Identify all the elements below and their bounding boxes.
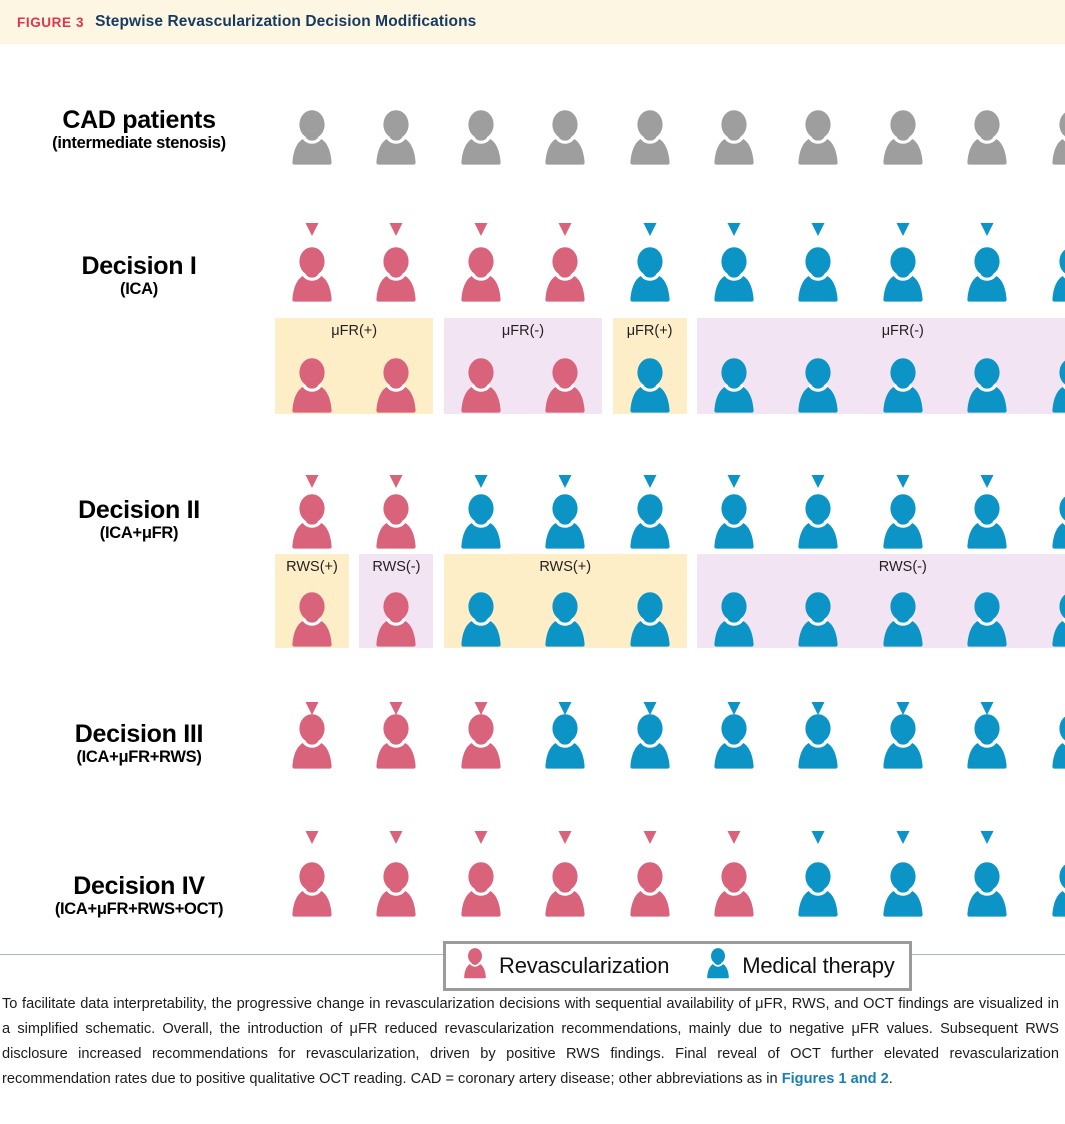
flow-arrow-d3-to-d4-7 — [810, 784, 826, 844]
patient-icon-ufr-band-2 — [369, 358, 423, 414]
figure-header: FIGURE 3 Stepwise Revascularization Deci… — [0, 0, 1065, 44]
flow-arrow-ufr-to-d2-8 — [895, 426, 911, 488]
flow-arrow-cad-to-d1-4 — [557, 176, 573, 236]
patient-icon-decision-2-2 — [369, 494, 423, 550]
patient-icon-cad-9 — [960, 110, 1014, 166]
patient-icon-decision-4-10 — [1045, 862, 1065, 918]
patient-icon-ufr-band-6 — [707, 358, 761, 414]
patient-icon-cad-5 — [623, 110, 677, 166]
patient-icon-decision-3-9 — [960, 714, 1014, 770]
patient-icon-cad-6 — [707, 110, 761, 166]
flow-arrow-ufr-to-d2-3 — [473, 426, 489, 488]
flow-arrow-d3-to-d4-9 — [979, 784, 995, 844]
patient-icon-rws-band-2 — [369, 592, 423, 648]
patient-icon-decision-3-1 — [285, 714, 339, 770]
patient-icon-rws-band-3 — [454, 592, 508, 648]
flow-arrow-cad-to-d1-7 — [810, 176, 826, 236]
patient-icon-decision-3-4 — [538, 714, 592, 770]
patient-icon-ufr-band-8 — [876, 358, 930, 414]
patient-icon-ufr-band-5 — [623, 358, 677, 414]
flow-arrow-rws-to-d3-7 — [810, 657, 826, 715]
figure-diagram: CAD patients(intermediate stenosis)Decis… — [0, 44, 1065, 954]
patient-icon-cad-3 — [454, 110, 508, 166]
band-label-rws-band-2: RWS(-) — [359, 559, 433, 575]
flow-arrow-cad-to-d1-8 — [895, 176, 911, 236]
flow-arrow-cad-to-d1-5 — [642, 176, 658, 236]
flow-arrow-ufr-to-d2-9 — [979, 426, 995, 488]
flow-arrow-cad-to-d1-3 — [473, 176, 489, 236]
patient-icon-decision-1-3 — [454, 247, 508, 303]
patient-icon-ufr-band-1 — [285, 358, 339, 414]
legend-patient-icon-blue — [703, 948, 733, 984]
patient-icon-decision-2-3 — [454, 494, 508, 550]
figure-caption: To facilitate data interpretability, the… — [2, 992, 1063, 1092]
flow-arrow-cad-to-d1-9 — [979, 176, 995, 236]
patient-icon-rws-band-10 — [1045, 592, 1065, 648]
patient-icon-ufr-band-7 — [791, 358, 845, 414]
patient-icon-cad-1 — [285, 110, 339, 166]
legend-label-red: Revascularization — [499, 953, 669, 979]
row-label-decision-2: Decision II(ICA+μFR) — [0, 496, 278, 542]
patient-icon-decision-2-5 — [623, 494, 677, 550]
patient-icon-decision-3-10 — [1045, 714, 1065, 770]
patient-icon-decision-2-1 — [285, 494, 339, 550]
legend-label-blue: Medical therapy — [742, 953, 894, 979]
patient-icon-decision-1-2 — [369, 247, 423, 303]
patient-icon-decision-1-10 — [1045, 247, 1065, 303]
patient-icon-decision-4-2 — [369, 862, 423, 918]
row-label-cad: CAD patients(intermediate stenosis) — [0, 106, 278, 152]
patient-icon-rws-band-6 — [707, 592, 761, 648]
patient-icon-decision-4-8 — [876, 862, 930, 918]
row-label-sub-decision-2: (ICA+μFR) — [0, 524, 278, 542]
band-label-rws-band-4: RWS(-) — [697, 559, 1065, 575]
patient-icon-rws-band-4 — [538, 592, 592, 648]
caption-text-tail: . — [889, 1071, 893, 1087]
row-label-decision-1: Decision I(ICA) — [0, 252, 278, 298]
flow-arrow-cad-to-d1-2 — [388, 176, 404, 236]
band-label-ufr-band-3: μFR(+) — [613, 323, 687, 339]
patient-icon-decision-3-5 — [623, 714, 677, 770]
patient-icon-rws-band-9 — [960, 592, 1014, 648]
flow-arrow-cad-to-d1-1 — [304, 176, 320, 236]
flow-arrow-ufr-to-d2-1 — [304, 426, 320, 488]
patient-icon-decision-2-6 — [707, 494, 761, 550]
patient-icon-ufr-band-3 — [454, 358, 508, 414]
flow-arrow-rws-to-d3-9 — [979, 657, 995, 715]
patient-icon-decision-1-6 — [707, 247, 761, 303]
patient-icon-decision-1-4 — [538, 247, 592, 303]
patient-icon-decision-3-8 — [876, 714, 930, 770]
flow-arrow-d3-to-d4-1 — [304, 784, 320, 844]
patient-icon-decision-2-10 — [1045, 494, 1065, 550]
flow-arrow-rws-to-d3-1 — [304, 657, 320, 715]
flow-arrow-ufr-to-d2-4 — [557, 426, 573, 488]
flow-arrow-rws-to-d3-4 — [557, 657, 573, 715]
patient-icon-rws-band-8 — [876, 592, 930, 648]
caption-figure-link[interactable]: Figures 1 and 2 — [782, 1071, 889, 1087]
flow-arrow-ufr-to-d2-2 — [388, 426, 404, 488]
patient-icon-decision-1-8 — [876, 247, 930, 303]
patient-icon-rws-band-5 — [623, 592, 677, 648]
flow-arrow-d3-to-d4-2 — [388, 784, 404, 844]
band-label-ufr-band-2: μFR(-) — [444, 323, 602, 339]
flow-arrow-rws-to-d3-8 — [895, 657, 911, 715]
patient-icon-decision-1-9 — [960, 247, 1014, 303]
legend-patient-icon-red — [460, 948, 490, 984]
flow-arrow-cad-to-d1-6 — [726, 176, 742, 236]
row-label-main-decision-3: Decision III — [0, 720, 278, 748]
patient-icon-ufr-band-9 — [960, 358, 1014, 414]
patient-icon-decision-4-4 — [538, 862, 592, 918]
flow-arrow-rws-to-d3-2 — [388, 657, 404, 715]
flow-arrow-d3-to-d4-6 — [726, 784, 742, 844]
band-label-rws-band-1: RWS(+) — [275, 559, 349, 575]
patient-icon-decision-4-7 — [791, 862, 845, 918]
patient-icon-decision-3-7 — [791, 714, 845, 770]
band-label-ufr-band-4: μFR(-) — [697, 323, 1065, 339]
patient-icon-decision-2-4 — [538, 494, 592, 550]
patient-icon-cad-4 — [538, 110, 592, 166]
flow-arrow-ufr-to-d2-6 — [726, 426, 742, 488]
row-label-main-decision-2: Decision II — [0, 496, 278, 524]
patient-icon-decision-2-7 — [791, 494, 845, 550]
band-label-rws-band-3: RWS(+) — [444, 559, 687, 575]
legend-item-red: Revascularization — [460, 948, 669, 984]
row-label-sub-decision-3: (ICA+μFR+RWS) — [0, 748, 278, 766]
flow-arrow-ufr-to-d2-5 — [642, 426, 658, 488]
row-label-main-decision-4: Decision IV — [0, 872, 278, 900]
flow-arrow-d3-to-d4-5 — [642, 784, 658, 844]
patient-icon-decision-4-3 — [454, 862, 508, 918]
caption-text-main: To facilitate data interpretability, the… — [2, 996, 1059, 1087]
patient-icon-decision-1-5 — [623, 247, 677, 303]
patient-icon-decision-3-3 — [454, 714, 508, 770]
row-label-sub-cad: (intermediate stenosis) — [0, 134, 278, 152]
patient-icon-cad-7 — [791, 110, 845, 166]
patient-icon-decision-2-9 — [960, 494, 1014, 550]
patient-icon-decision-1-7 — [791, 247, 845, 303]
row-label-sub-decision-4: (ICA+μFR+RWS+OCT) — [0, 900, 278, 918]
flow-arrow-rws-to-d3-5 — [642, 657, 658, 715]
flow-arrow-d3-to-d4-4 — [557, 784, 573, 844]
band-label-ufr-band-1: μFR(+) — [275, 323, 433, 339]
flow-arrow-d3-to-d4-8 — [895, 784, 911, 844]
patient-icon-ufr-band-10 — [1045, 358, 1065, 414]
patient-icon-ufr-band-4 — [538, 358, 592, 414]
patient-icon-cad-10 — [1045, 110, 1065, 166]
patient-icon-decision-1-1 — [285, 247, 339, 303]
patient-icon-rws-band-7 — [791, 592, 845, 648]
legend: RevascularizationMedical therapy — [443, 941, 912, 991]
row-label-main-cad: CAD patients — [0, 106, 278, 134]
patient-icon-decision-4-1 — [285, 862, 339, 918]
row-label-sub-decision-1: (ICA) — [0, 280, 278, 298]
patient-icon-decision-3-2 — [369, 714, 423, 770]
patient-icon-decision-4-6 — [707, 862, 761, 918]
row-label-decision-3: Decision III(ICA+μFR+RWS) — [0, 720, 278, 766]
figure-title: Stepwise Revascularization Decision Modi… — [95, 13, 476, 31]
flow-arrow-d3-to-d4-3 — [473, 784, 489, 844]
patient-icon-cad-8 — [876, 110, 930, 166]
patient-icon-decision-3-6 — [707, 714, 761, 770]
flow-arrow-ufr-to-d2-7 — [810, 426, 826, 488]
patient-icon-decision-2-8 — [876, 494, 930, 550]
flow-arrow-rws-to-d3-6 — [726, 657, 742, 715]
patient-icon-cad-2 — [369, 110, 423, 166]
row-label-decision-4: Decision IV(ICA+μFR+RWS+OCT) — [0, 872, 278, 918]
legend-item-blue: Medical therapy — [703, 948, 894, 984]
row-label-main-decision-1: Decision I — [0, 252, 278, 280]
patient-icon-rws-band-1 — [285, 592, 339, 648]
flow-arrow-rws-to-d3-3 — [473, 657, 489, 715]
figure-tag: FIGURE 3 — [17, 15, 84, 30]
patient-icon-decision-4-9 — [960, 862, 1014, 918]
patient-icon-decision-4-5 — [623, 862, 677, 918]
